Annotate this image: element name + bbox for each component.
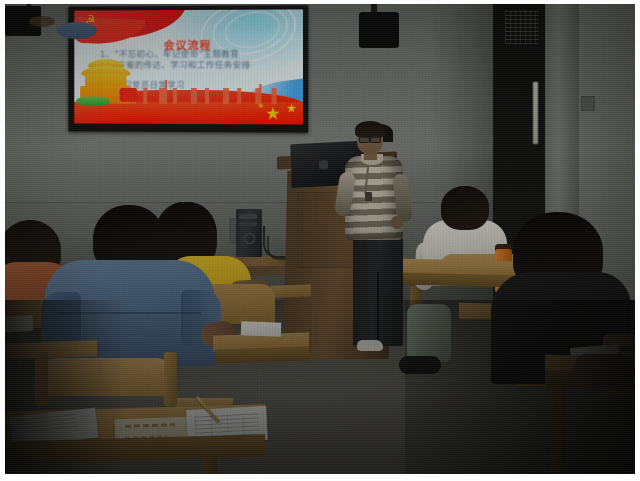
shadow-right xyxy=(405,300,635,474)
presenter-leg-gap xyxy=(377,272,379,346)
presenter-hand xyxy=(391,216,403,229)
gate-red-accent xyxy=(119,88,137,102)
ceiling-speaker-right-icon xyxy=(359,12,399,48)
drive-bay xyxy=(239,222,257,226)
computer-tower-side-panel xyxy=(229,218,236,244)
shadow-left xyxy=(5,300,125,474)
gate-foliage xyxy=(76,97,109,106)
paper-sheet xyxy=(241,321,281,336)
photograph: 会议流程 1、“不忘初心、牢记使命”主题教育 实施方案的传达、学习和工作任务安排… xyxy=(5,4,635,474)
projection-screen-frame: 会议流程 1、“不忘初心、牢记使命”主题教育 实施方案的传达、学习和工作任务安排… xyxy=(68,5,308,132)
drive-bay xyxy=(239,214,257,219)
photo-border-top xyxy=(0,0,640,4)
photo-border-left xyxy=(0,0,5,481)
photo-canvas: 会议流程 1、“不忘初心、牢记使命”主题教育 实施方案的传达、学习和工作任务安排… xyxy=(0,0,640,481)
laptop-logo xyxy=(319,160,328,169)
yellow-star-icon-large xyxy=(265,105,280,122)
projection-screen: 会议流程 1、“不忘初心、牢记使命”主题教育 实施方案的传达、学习和工作任务安排… xyxy=(74,9,303,124)
tiananmen-gate-graphic xyxy=(80,50,131,104)
chair-backrest-cutout xyxy=(29,16,55,27)
eyeglasses-icon xyxy=(359,135,381,141)
photo-border-bottom xyxy=(0,474,640,481)
desk-leg xyxy=(203,456,217,474)
ventilation-grille-icon xyxy=(505,10,539,44)
skyline-tower xyxy=(165,80,167,104)
yellow-star-icon-small xyxy=(257,102,264,110)
attendee-head xyxy=(441,186,489,230)
yellow-star-icon-medium xyxy=(286,102,297,114)
wall-outlet-icon xyxy=(581,96,595,111)
lanyard-badge xyxy=(365,192,372,201)
chair-post-right xyxy=(164,352,177,406)
chair-backrest-cutout xyxy=(57,22,97,39)
presenter-shoe xyxy=(357,340,383,351)
photo-border-right xyxy=(635,0,640,481)
door-light-streak xyxy=(533,82,538,144)
power-button-icon[interactable] xyxy=(244,233,255,244)
